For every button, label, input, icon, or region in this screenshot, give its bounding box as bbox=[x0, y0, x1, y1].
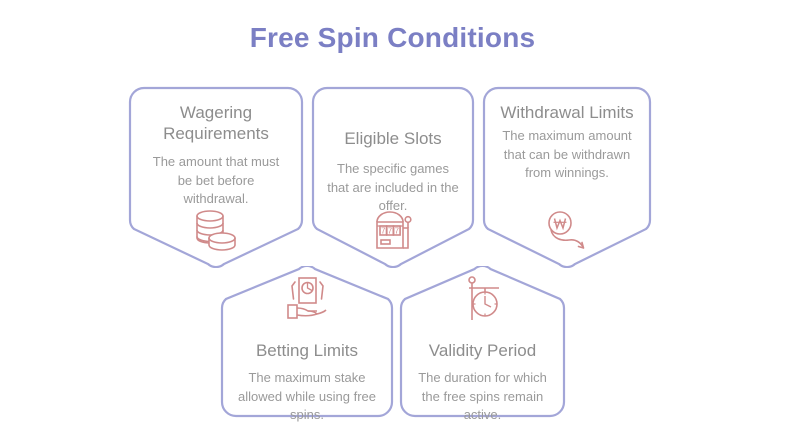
svg-text:7: 7 bbox=[395, 227, 400, 236]
card-content: Eligible Slots The specific games that a… bbox=[311, 86, 475, 268]
stacked-coins-icon bbox=[191, 208, 241, 254]
svg-text:7: 7 bbox=[381, 227, 386, 236]
card-description: The duration for which the free spins re… bbox=[399, 369, 566, 425]
card-title: Eligible Slots bbox=[330, 128, 455, 149]
page-title: Free Spin Conditions bbox=[0, 22, 785, 54]
svg-text:7: 7 bbox=[388, 227, 393, 236]
card-description: The maximum amount that can be withdrawn… bbox=[482, 127, 652, 183]
card-validity-period[interactable]: Validity Period The duration for which t… bbox=[399, 266, 566, 418]
slot-machine-icon: 7 7 7 bbox=[369, 208, 417, 254]
card-eligible-slots[interactable]: Eligible Slots The specific games that a… bbox=[311, 86, 475, 268]
card-icon-wrap: 7 7 7 bbox=[311, 208, 475, 254]
won-currency-arrow-icon bbox=[540, 210, 594, 254]
hanging-clock-icon bbox=[455, 274, 511, 326]
card-title: Withdrawal Limits bbox=[486, 102, 647, 123]
card-icon-wrap bbox=[482, 210, 652, 254]
card-content: Betting Limits The maximum stake allowed… bbox=[220, 266, 394, 418]
card-description: The maximum stake allowed while using fr… bbox=[220, 369, 394, 425]
card-betting-limits[interactable]: Betting Limits The maximum stake allowed… bbox=[220, 266, 394, 418]
card-title: Validity Period bbox=[415, 340, 550, 361]
card-content: Validity Period The duration for which t… bbox=[399, 266, 566, 418]
card-icon-wrap bbox=[128, 208, 304, 254]
card-content: Wagering Requirements The amount that mu… bbox=[128, 86, 304, 268]
card-description: The amount that must be bet before withd… bbox=[128, 153, 304, 209]
card-wagering-requirements[interactable]: Wagering Requirements The amount that mu… bbox=[128, 86, 304, 268]
card-icon-wrap bbox=[220, 274, 394, 326]
card-icon-wrap bbox=[399, 274, 566, 326]
card-title: Wagering Requirements bbox=[128, 102, 304, 144]
hand-holding-card-icon bbox=[279, 274, 335, 326]
card-withdrawal-limits[interactable]: Withdrawal Limits The maximum amount tha… bbox=[482, 86, 652, 268]
card-title: Betting Limits bbox=[242, 340, 372, 361]
infographic-canvas: Free Spin Conditions Wagering Requiremen… bbox=[0, 0, 785, 442]
card-content: Withdrawal Limits The maximum amount tha… bbox=[482, 86, 652, 268]
